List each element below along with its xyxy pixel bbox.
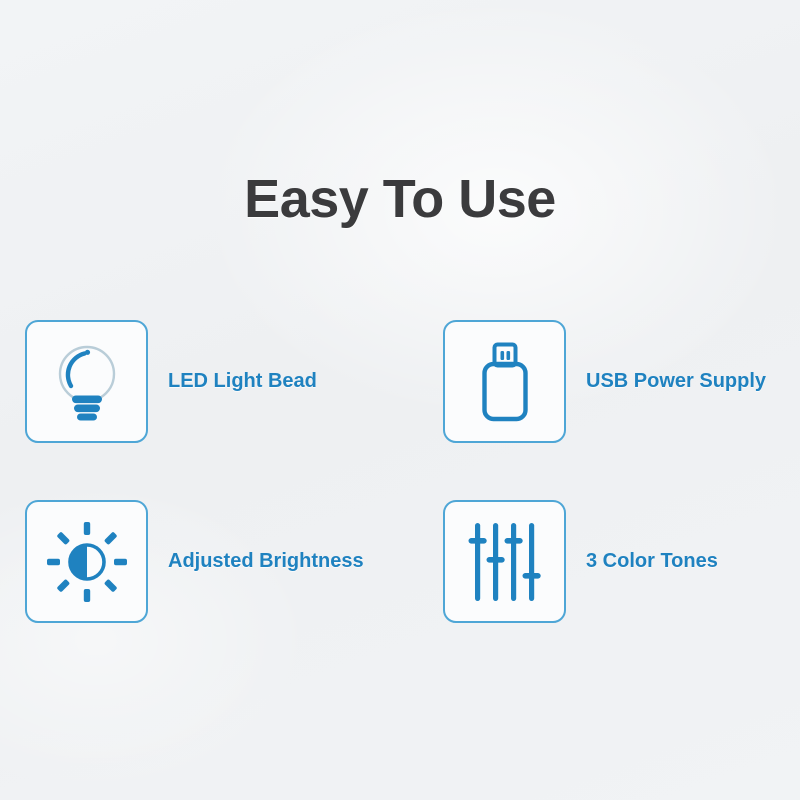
brightness-sun-icon [46,521,128,603]
feature-label: 3 Color Tones [586,550,718,573]
feature-item-led-light-bead[interactable]: LED Light Bead [25,320,317,443]
feature-grid: LED Light Bead USB Power Supply [0,0,800,800]
feature-item-usb-power-supply[interactable]: USB Power Supply [443,320,766,443]
feature-icon-box [25,500,148,623]
feature-label: LED Light Bead [168,370,317,393]
feature-label: Adjusted Brightness [168,550,364,573]
usb-flash-drive-icon [473,341,537,423]
light-bulb-icon [51,341,123,423]
feature-icon-box [25,320,148,443]
sliders-icon [468,521,542,603]
feature-icon-box [443,320,566,443]
feature-item-adjusted-brightness[interactable]: Adjusted Brightness [25,500,364,623]
feature-label: USB Power Supply [586,370,766,393]
feature-item-3-color-tones[interactable]: 3 Color Tones [443,500,718,623]
feature-highlight-page: Easy To Use LED Light Bead [0,0,800,800]
feature-icon-box [443,500,566,623]
